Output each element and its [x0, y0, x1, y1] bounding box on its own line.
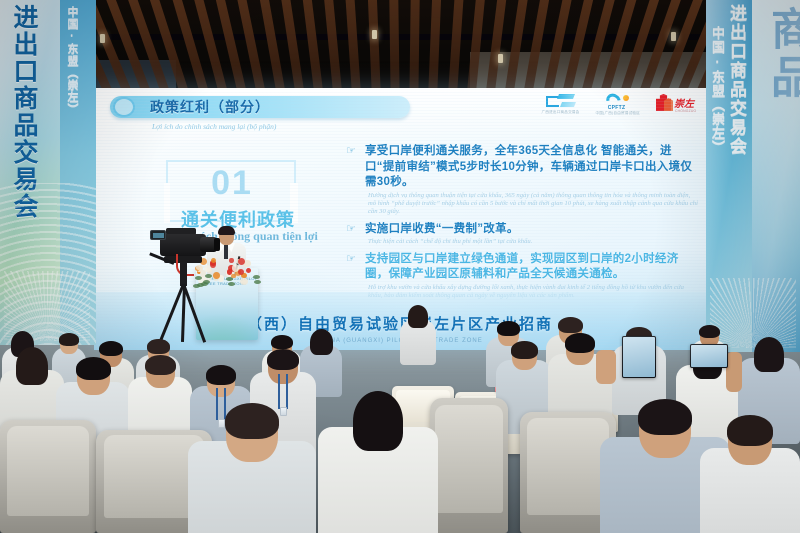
guangxi-expo-logo: 广西进出口商品交易会	[542, 94, 580, 120]
person-hair	[59, 333, 79, 346]
flower	[229, 258, 233, 262]
person-hair	[699, 325, 720, 338]
left-banner-sub-text: 中国·东盟（崇左）	[64, 6, 80, 115]
ceiling-slat	[367, 0, 382, 96]
hall-ceiling	[0, 0, 800, 96]
slide-title-vn: Lợi ích do chính sách mang lại (bộ phận)	[152, 122, 276, 131]
flower	[246, 268, 251, 273]
bullet-text-cn: 享受口岸便利通关服务，全年365天全信息化 智能通关，进口“提前审结”模式5步时…	[365, 144, 698, 191]
person-hair	[408, 305, 428, 328]
cpftz-logo: CPFTZ 中国(广西)自由贸易试验区	[595, 94, 640, 120]
ceiling-spotlight	[372, 30, 377, 39]
ceiling-spotlight	[671, 32, 676, 41]
tablet-device[interactable]	[622, 336, 656, 378]
broadcast-video-camera	[146, 228, 226, 346]
conference-scene: 政策红利（部分） Lợi ích do chính sách mang lại …	[0, 0, 800, 533]
audience-person	[400, 306, 436, 370]
ceiling-slat	[409, 0, 420, 96]
guangxi-expo-logo-caption: 广西进出口商品交易会	[542, 110, 580, 115]
person-hair	[225, 403, 279, 439]
person-hair	[99, 341, 123, 356]
bullet-text-cn: 支持园区与口岸建立绿色通道，实现园区到口岸的2小时经济圈，保障产业园区原辅料和产…	[365, 252, 698, 283]
person-hair	[147, 339, 170, 354]
smartphone[interactable]	[690, 344, 728, 368]
sponsor-logo-row: 广西进出口商品交易会 CPFTZ 中国(广西)自由贸易试验区 崇左 CHONGZ…	[542, 94, 696, 120]
audience-person	[700, 416, 800, 533]
ceiling-slat	[322, 0, 345, 96]
bullet-item: ☞ 实施口岸收费“一费制”改革。 Thực hiện cải cách “chế…	[346, 222, 698, 247]
person-hair	[145, 355, 176, 375]
slide-title-bullet-circle	[113, 97, 135, 117]
audience-person	[318, 392, 438, 533]
person-hair	[558, 317, 583, 333]
bullet-text-vn: Hưởng dịch vụ thông quan thuận tiện tại …	[368, 192, 698, 217]
slide-title-cn: 政策红利（部分）	[150, 97, 270, 117]
flower-greenery	[228, 282, 235, 286]
camera-viewfinder	[150, 230, 166, 240]
ceiling-slat	[427, 0, 442, 96]
cpftz-logo-abbr: CPFTZ	[608, 105, 626, 111]
bullet-item: ☞ 享受口岸便利通关服务，全年365天全信息化 智能通关，进口“提前审结”模式5…	[346, 144, 698, 217]
bullet-text-vn: Thực hiện cải cách “chế độ chi thu phí m…	[368, 238, 698, 246]
ceiling-slat	[389, 0, 400, 96]
person-hair	[16, 347, 48, 385]
person-hair	[76, 357, 111, 380]
person-hair	[638, 399, 692, 435]
person-hair	[267, 349, 299, 370]
flower-greenery	[254, 280, 261, 284]
pointing-hand-icon: ☞	[346, 222, 362, 237]
person-hair	[271, 335, 293, 349]
flower	[238, 269, 244, 275]
person-hair	[353, 391, 403, 451]
audience-chair	[430, 398, 508, 533]
flower-greenery	[226, 277, 233, 281]
flower-greenery	[253, 275, 260, 279]
chongzuo-logo-text: 崇左	[674, 95, 694, 110]
person-hair	[565, 333, 595, 353]
audience-person	[188, 404, 316, 533]
person-arm	[596, 350, 616, 384]
audience-chair	[0, 420, 96, 533]
pointing-hand-icon: ☞	[346, 252, 362, 267]
ceiling-slat	[344, 0, 363, 96]
slide-bullet-list: ☞ 享受口岸便利通关服务，全年365天全信息化 智能通关，进口“提前审结”模式5…	[346, 144, 698, 305]
chongzuo-logo: 崇左 CHONGZUO	[656, 94, 696, 120]
flower	[240, 278, 247, 285]
right-event-banner: 商品 进出口商品交易会 中国·东盟（崇左）	[706, 0, 800, 352]
left-banner-fan-graphic	[4, 271, 90, 341]
person-hair	[511, 341, 538, 359]
section-number: 01	[172, 164, 292, 202]
pointing-hand-icon: ☞	[346, 144, 362, 159]
tripod-leg	[181, 284, 186, 342]
cpftz-logo-caption: 中国(广西)自由贸易试验区	[595, 111, 640, 116]
flower	[227, 269, 233, 275]
person-arm	[726, 352, 742, 392]
ceiling-slat	[446, 0, 465, 96]
person-hair	[754, 337, 784, 372]
ceiling-spotlight	[498, 54, 503, 63]
ceiling-spotlight	[100, 34, 105, 43]
left-event-banner: 进出口商品交易会 中国·东盟（崇左）	[0, 0, 96, 345]
ceiling-slat	[300, 0, 327, 96]
bullet-text-cn: 实施口岸收费“一费制”改革。	[365, 222, 519, 238]
person-hair	[727, 415, 773, 446]
person-hair	[206, 365, 236, 385]
person-hair	[497, 321, 520, 336]
